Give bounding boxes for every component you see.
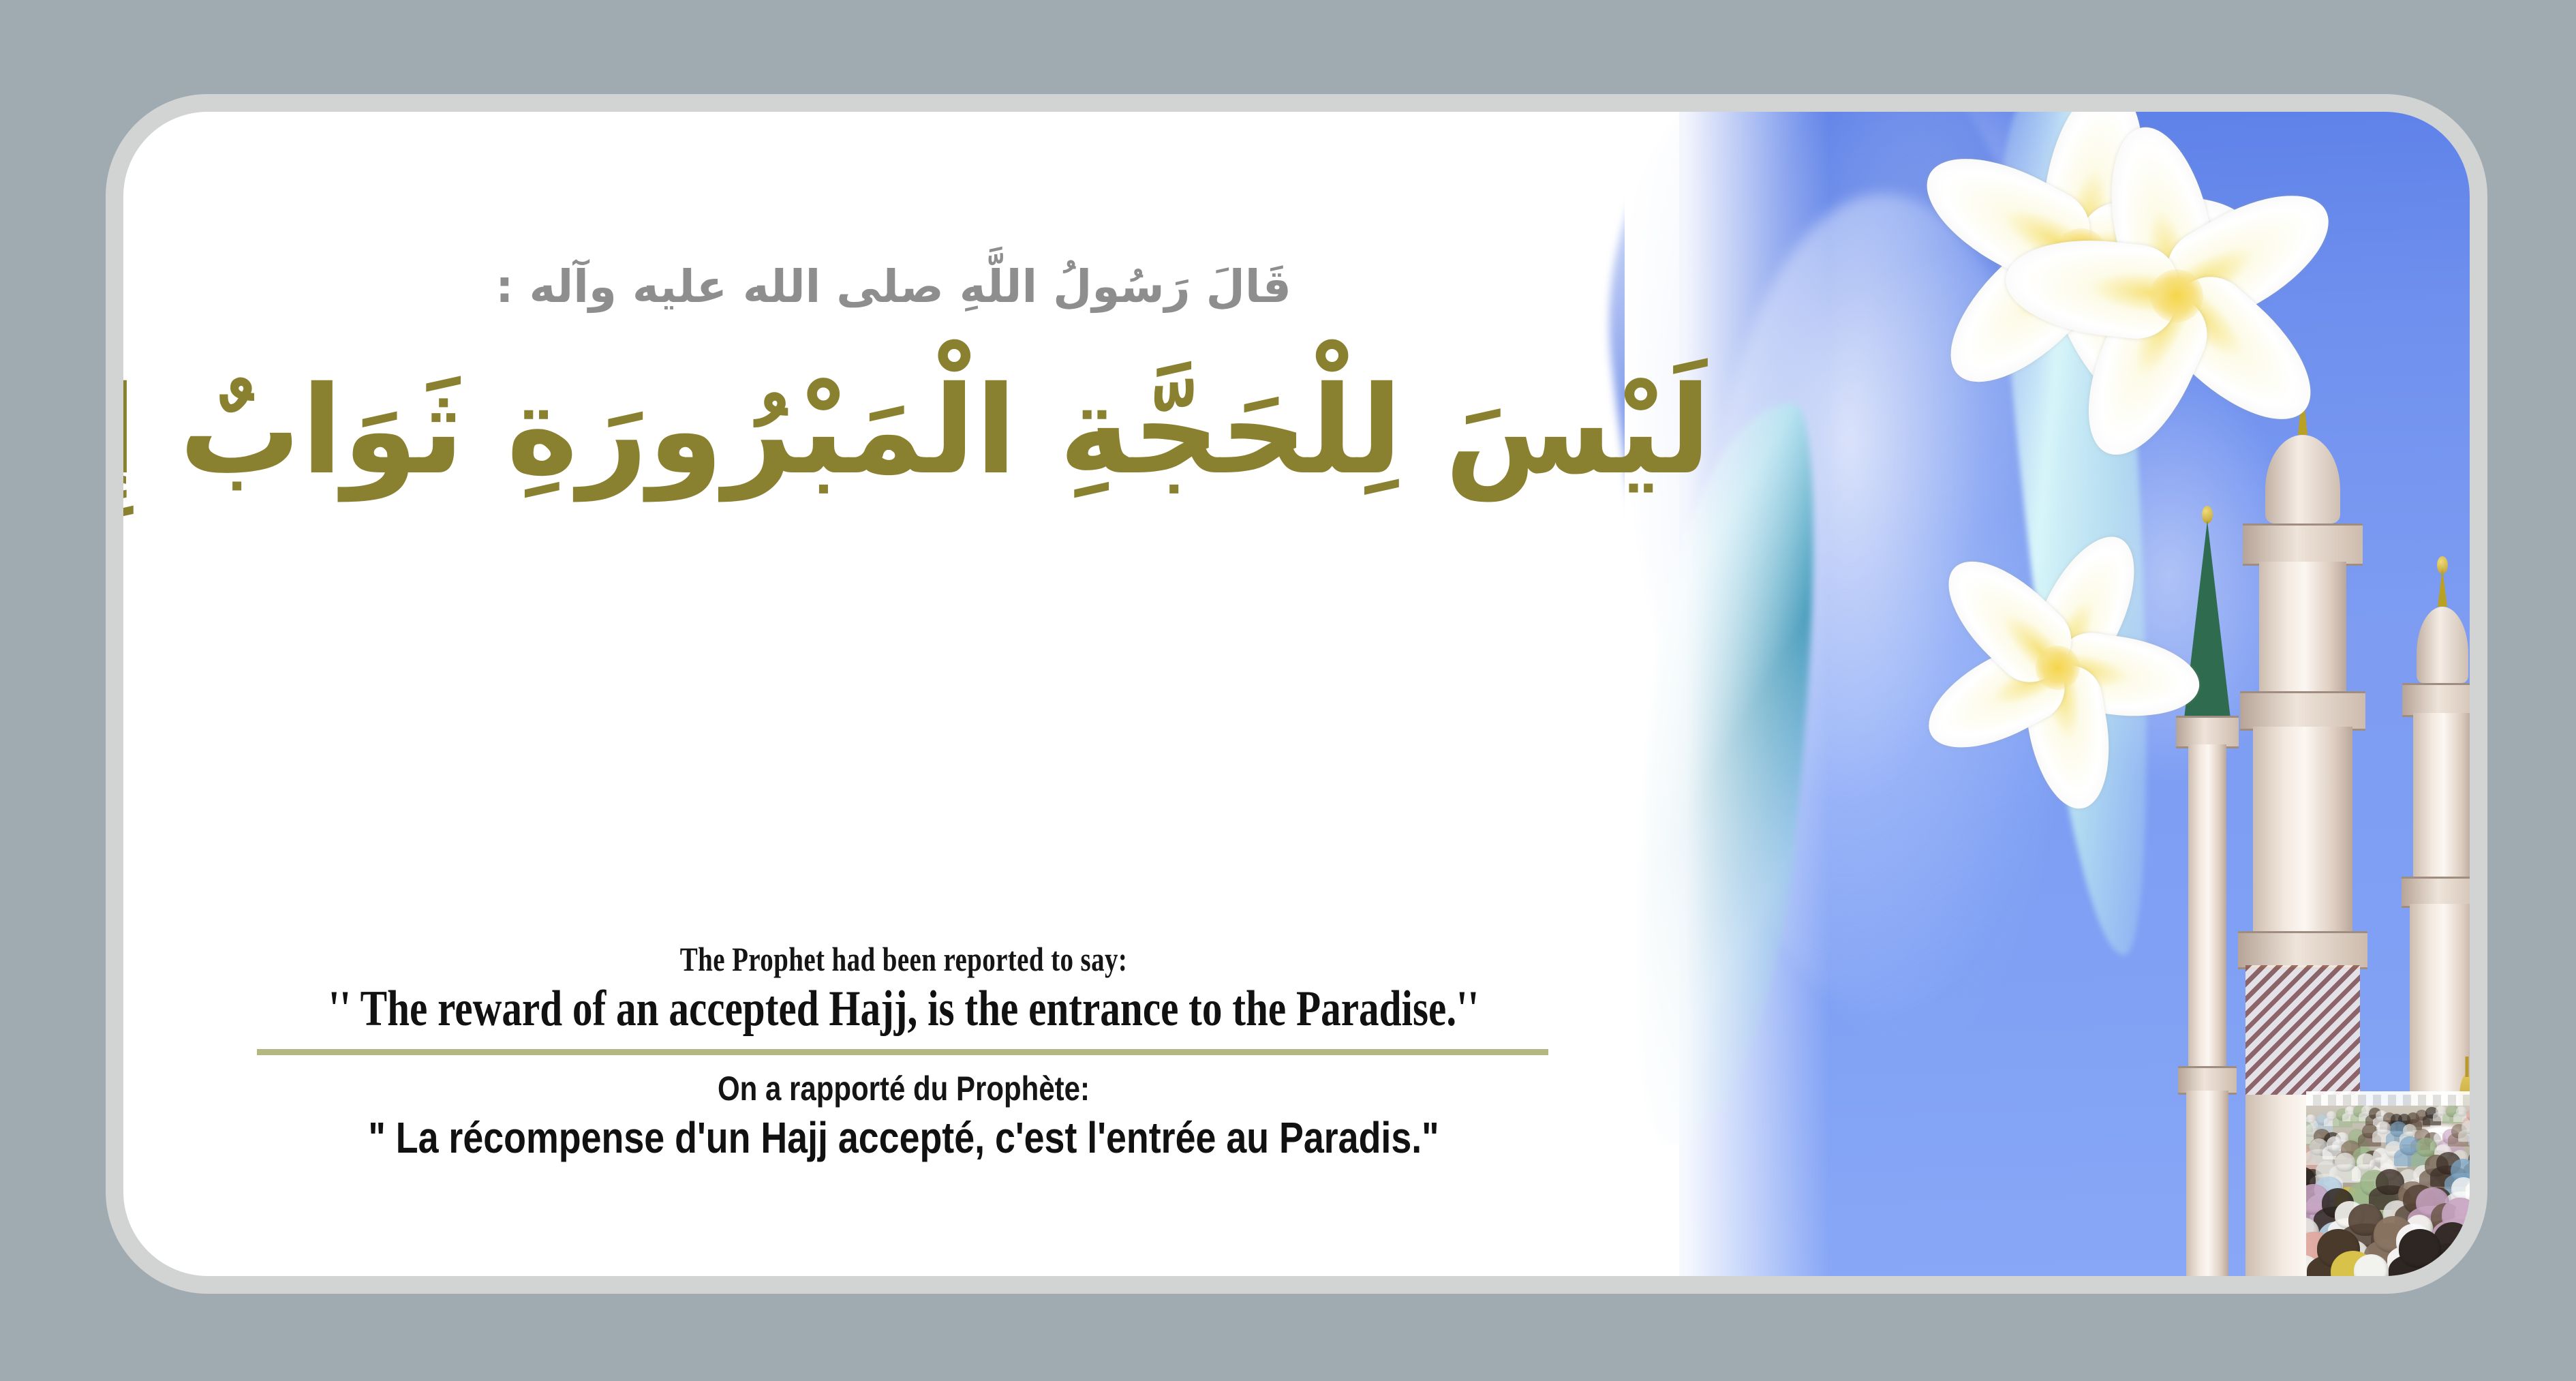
hadith-text-arabic: لَيْسَ لِلْحَجَّةِ الْمَبْرُورَةِ ثَوَاب… bbox=[123, 337, 1711, 525]
english-quote-line: '' The reward of an accepted Hajj, is th… bbox=[279, 980, 1528, 1038]
minaret-medina-main-icon bbox=[2238, 398, 2367, 1276]
poster-card: قَالَ رَسُولُ اللَّهِ صلى الله عليه وآله… bbox=[106, 94, 2487, 1294]
english-intro-line: The Prophet had been reported to say: bbox=[295, 939, 1512, 979]
section-divider bbox=[257, 1049, 1548, 1055]
hadith-intro-arabic: قَالَ رَسُولُ اللَّهِ صلى الله عليه وآله… bbox=[123, 260, 1663, 313]
haram-railing bbox=[2306, 1091, 2470, 1121]
minaret-right-icon bbox=[2402, 575, 2470, 1276]
blue-abstract-swirls-icon bbox=[1679, 112, 2470, 1276]
white-ribbon-icon bbox=[1989, 112, 2173, 960]
french-intro-line: On a rapporté du Prophète: bbox=[248, 1069, 1559, 1108]
plumeria-flower-icon bbox=[2037, 156, 2316, 436]
minaret-green-spire-icon bbox=[2177, 521, 2238, 1276]
green-dome-finial-icon bbox=[2459, 1074, 2470, 1119]
pilgrims-crowd-icon bbox=[2306, 1106, 2470, 1276]
plumeria-flower-icon bbox=[1963, 136, 2200, 374]
text-content: قَالَ رَسُولُ اللَّهِ صلى الله عليه وآله… bbox=[123, 112, 1779, 1276]
french-quote-line: " La récompense d'un Hajj accepté, c'est… bbox=[248, 1112, 1559, 1163]
green-dome-icon bbox=[2327, 1112, 2470, 1276]
plumeria-flower-icon bbox=[1948, 558, 2166, 776]
poster-canvas: قَالَ رَسُولُ اللَّهِ صلى الله عليه وآله… bbox=[0, 0, 2576, 1381]
